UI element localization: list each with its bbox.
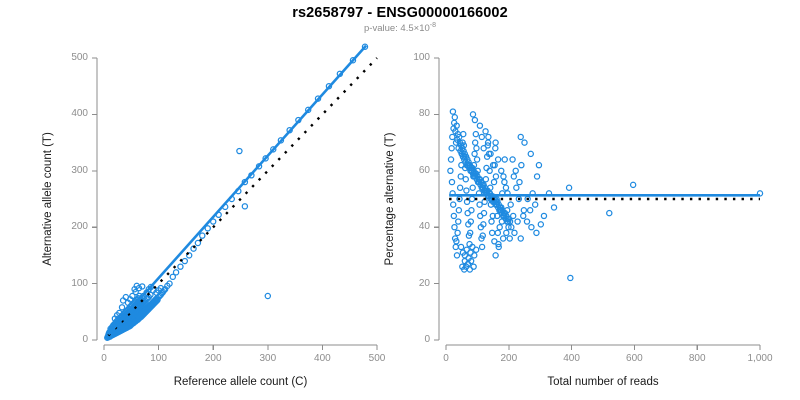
right-y-tick-label: 80 <box>384 108 430 119</box>
left-y-tick-label: 0 <box>42 334 88 345</box>
left-x-tick-label: 100 <box>129 353 189 364</box>
right-y-tick-label: 100 <box>384 52 430 63</box>
right-x-tick-label: 600 <box>604 353 664 364</box>
right-x-axis-title: Total number of reads <box>386 376 800 388</box>
right-x-tick-label: 400 <box>542 353 602 364</box>
left-reference-line <box>108 58 377 335</box>
right-y-tick-label: 60 <box>384 165 430 176</box>
right-y-axis-title: Percentage alternative (T) <box>384 58 396 340</box>
left-y-tick-label: 300 <box>42 165 88 176</box>
left-x-tick-label: 300 <box>238 353 298 364</box>
right-plot-canvas <box>400 0 800 400</box>
right-x-tick-label: 1,000 <box>730 353 790 364</box>
left-fit-line <box>108 46 366 335</box>
scatter-panel-allele-counts: Reference allele count (C) Alternative a… <box>0 0 400 400</box>
figure-container: rs2658797 - ENSG00000166002 p-value: 4.5… <box>0 0 800 400</box>
right-y-tick-label: 40 <box>384 221 430 232</box>
left-x-tick-label: 0 <box>74 353 134 364</box>
right-y-tick-label: 20 <box>384 278 430 289</box>
right-x-tick-label: 0 <box>416 353 476 364</box>
left-y-axis-title: Alternative allele count (T) <box>42 58 54 340</box>
left-x-tick-label: 500 <box>347 353 407 364</box>
scatter-panel-percentage: Total number of reads Percentage alterna… <box>400 0 800 400</box>
right-x-tick-label: 800 <box>667 353 727 364</box>
left-x-axis-title: Reference allele count (C) <box>44 376 437 388</box>
right-y-tick-label: 0 <box>384 334 430 345</box>
right-x-tick-label: 200 <box>479 353 539 364</box>
left-y-tick-label: 200 <box>42 221 88 232</box>
left-x-tick-label: 200 <box>183 353 243 364</box>
left-y-tick-label: 500 <box>42 52 88 63</box>
left-y-tick-label: 400 <box>42 108 88 119</box>
left-y-tick-label: 100 <box>42 278 88 289</box>
left-x-tick-label: 400 <box>292 353 352 364</box>
